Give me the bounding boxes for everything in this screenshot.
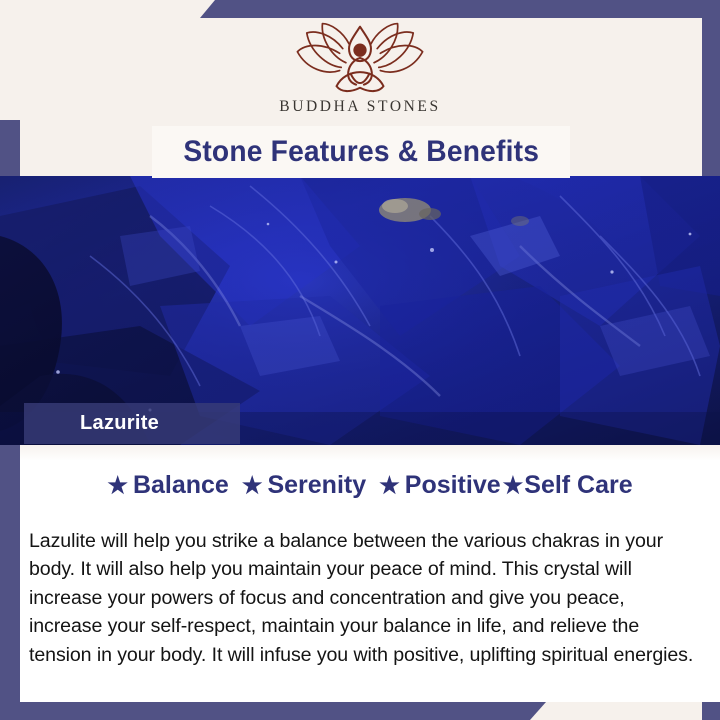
keyword-self-care: ★Self Care xyxy=(503,471,633,500)
star-icon: ★ xyxy=(379,472,400,498)
stone-info-card: BUDDHA STONES Stone Features & Benefits xyxy=(0,0,720,720)
keyword-serenity: ★Serenity xyxy=(242,471,366,500)
keyword-positive: ★Positive xyxy=(379,471,501,500)
star-icon: ★ xyxy=(503,472,524,498)
keyword-label: Balance xyxy=(133,471,229,499)
star-icon: ★ xyxy=(242,472,263,498)
page-title: Stone Features & Benefits xyxy=(183,135,539,169)
keyword-label: Self Care xyxy=(524,471,632,499)
stone-name-label: Lazurite xyxy=(24,412,159,435)
star-icon: ★ xyxy=(107,472,128,498)
content-card: ★Balance★Serenity★Positive★Self Care Laz… xyxy=(20,445,720,702)
description-paragraph: Lazulite will help you strike a balance … xyxy=(29,527,701,670)
frame-accent-top xyxy=(200,0,720,18)
lotus-meditation-figure-icon xyxy=(280,22,440,94)
keyword-balance: ★Balance xyxy=(107,471,229,500)
keyword-label: Positive xyxy=(405,471,501,499)
frame-accent-bottom xyxy=(0,702,546,720)
brand-wordmark: BUDDHA STONES xyxy=(0,98,720,116)
keyword-label: Serenity xyxy=(267,471,366,499)
keywords-row: ★Balance★Serenity★Positive★Self Care xyxy=(20,471,720,500)
brand-logo: BUDDHA STONES xyxy=(0,22,720,116)
title-banner: Stone Features & Benefits xyxy=(152,126,570,178)
card-top-fade xyxy=(20,445,720,461)
stone-name-tag: Lazurite xyxy=(24,403,240,444)
